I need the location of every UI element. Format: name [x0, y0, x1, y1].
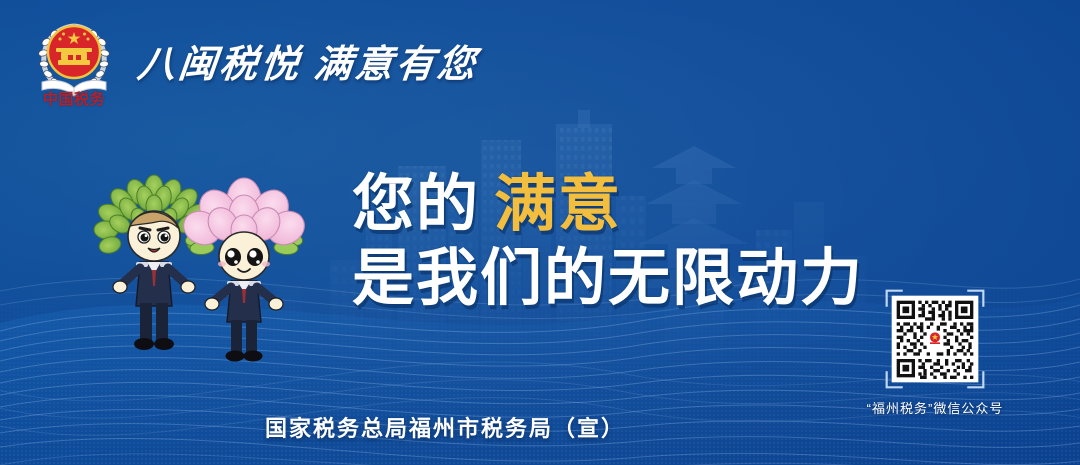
wechat-official-account-qr-code[interactable] [885, 289, 985, 389]
tax-promotion-banner: 中国税务 八闽税悦 满意有您 [0, 0, 1080, 465]
headline-block: 您的 满意 是我们的无限动力 [352, 172, 872, 311]
china-taxation-emblem-icon: 中国税务 [28, 8, 120, 108]
headline-line1-highlight: 满意 [494, 172, 622, 238]
headline-line1-part1: 您的 [352, 172, 480, 238]
banyan-leaf-boy-mascot [93, 175, 214, 350]
mascot-pair [92, 170, 357, 370]
banner-header: 中国税务 八闽税悦 满意有您 [28, 8, 479, 108]
footer-credit: 国家税务总局福州市税务局（宣） [0, 411, 1080, 443]
emblem-caption: 中国税务 [28, 88, 120, 109]
header-slogan: 八闽税悦 满意有您 [135, 33, 481, 88]
headline-line2: 是我们的无限动力 [352, 246, 864, 312]
qr-block[interactable]: “福州税务”微信公众号 [850, 289, 1020, 417]
